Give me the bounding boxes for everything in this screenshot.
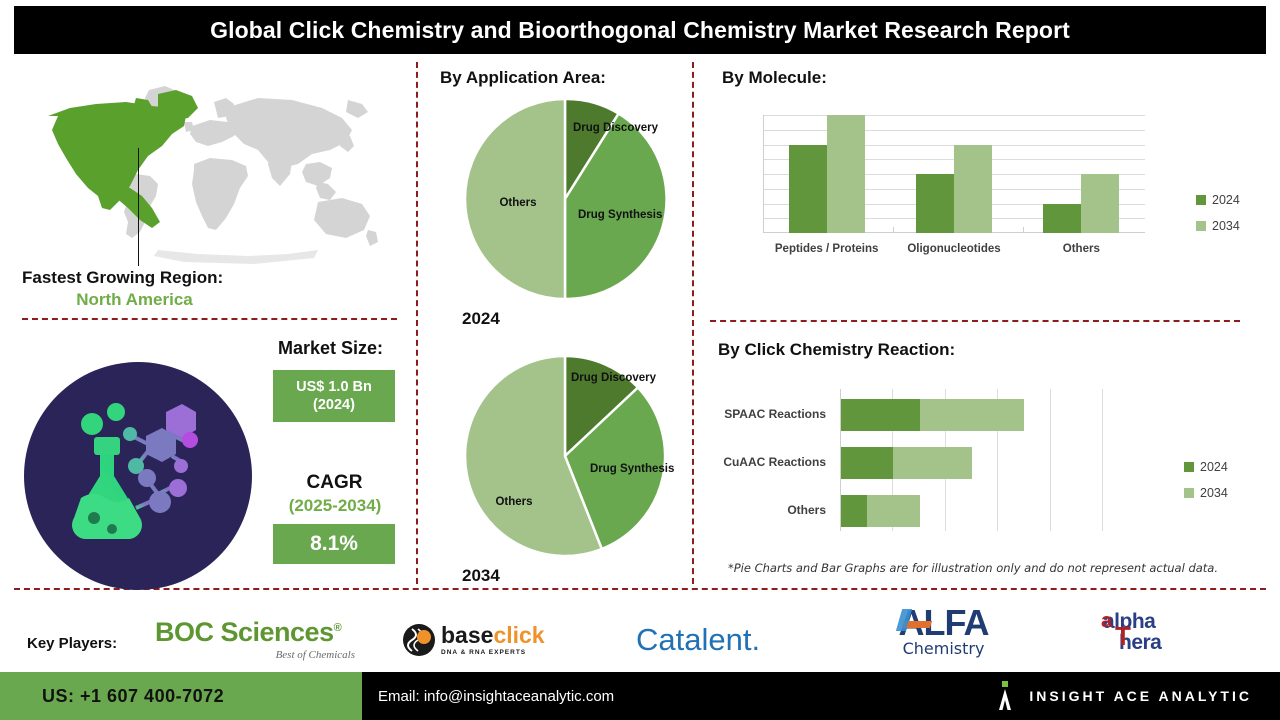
legend-item-2024: 2024 bbox=[1196, 193, 1240, 207]
category-label-spaac-reactions: SPAAC Reactions bbox=[724, 407, 826, 421]
pie-2034-year: 2034 bbox=[462, 566, 500, 586]
pie-2034-label-drug-synthesis: Drug Synthesis bbox=[590, 462, 660, 476]
alphathera-red-t-icon: T bbox=[1115, 623, 1131, 649]
registered-mark-icon: ® bbox=[334, 622, 342, 634]
bar-others-2034 bbox=[1081, 174, 1119, 233]
world-map bbox=[18, 72, 408, 267]
fastest-growing-region-label: Fastest Growing Region: bbox=[22, 268, 392, 288]
logo-baseclick-tagline: DNA & RNA EXPERTS bbox=[441, 649, 545, 656]
section-heading-molecule: By Molecule: bbox=[722, 68, 827, 88]
alphathera-red-a-icon: a bbox=[1101, 610, 1112, 633]
logo-catalent-name: Catalent. bbox=[636, 624, 760, 655]
baseclick-dna-icon bbox=[402, 623, 436, 657]
logo-boc-sciences: BOC Sciences® Best of Chemicals bbox=[155, 612, 355, 668]
stacked-bar-spaac bbox=[841, 399, 1024, 431]
stacked-seg-others-2034 bbox=[867, 495, 919, 527]
market-size-value-box: US$ 1.0 Bn (2024) bbox=[273, 370, 395, 422]
legend-swatch-reaction-2034 bbox=[1184, 488, 1194, 498]
pie-2034-slice-label-2: Others bbox=[495, 496, 532, 508]
divider-horizontal-right bbox=[710, 320, 1240, 322]
page-title: Global Click Chemistry and Bioorthogonal… bbox=[210, 17, 1070, 44]
category-label-others: Others bbox=[1018, 243, 1145, 255]
insight-ace-logo-icon bbox=[995, 681, 1015, 711]
footer-email: Email: info@insightaceanalytic.com bbox=[378, 672, 614, 720]
bar-peptides-2024 bbox=[789, 145, 827, 234]
bar-group-oligonucleotides bbox=[890, 115, 1017, 233]
legend-item-reaction-2034: 2034 bbox=[1184, 486, 1228, 500]
fastest-growing-region-block: Fastest Growing Region: North America bbox=[22, 268, 392, 310]
map-highlight-north-america bbox=[48, 90, 198, 228]
legend-label-reaction-2034: 2034 bbox=[1200, 486, 1228, 500]
divider-horizontal-left bbox=[22, 318, 397, 320]
category-label-oligonucleotides: Oligonucleotides bbox=[890, 243, 1017, 255]
legend-item-reaction-2024: 2024 bbox=[1184, 460, 1228, 474]
category-label-peptides-proteins: Peptides / Proteins bbox=[763, 243, 890, 255]
bar-chart-reaction: SPAAC Reactions CuAAC Reactions Others bbox=[712, 385, 1232, 553]
pie-2034-label-others: Others bbox=[483, 495, 545, 509]
cagr-value-box: 8.1% bbox=[273, 524, 395, 564]
bar-oligonucleotides-2034 bbox=[954, 145, 992, 234]
pie-2024-slice-label-2: Others bbox=[499, 197, 536, 209]
pie-2024-slice-label-0: Drug Discovery bbox=[573, 122, 658, 134]
logo-baseclick-click: click bbox=[493, 622, 544, 648]
stacked-seg-spaac-2034 bbox=[920, 399, 1025, 431]
logo-catalent-dot: . bbox=[751, 622, 760, 657]
legend-molecule-chart: 2024 2034 bbox=[1196, 193, 1240, 245]
pie-2024-slice-label-1: Drug Synthesis bbox=[578, 209, 662, 221]
category-label-cuaac-reactions: CuAAC Reactions bbox=[723, 455, 826, 469]
pie-2034-slice-label-1: Drug Synthesis bbox=[590, 463, 674, 475]
section-heading-reaction: By Click Chemistry Reaction: bbox=[718, 340, 955, 360]
logo-catalent-text: Catalent bbox=[636, 622, 751, 657]
logo-alfa-chemistry: ALFA Chemistry bbox=[866, 602, 1021, 660]
footer-brand-block: INSIGHT ACE ANALYTIC bbox=[995, 672, 1252, 720]
bar-peptides-2034 bbox=[827, 115, 865, 233]
logo-boc-sciences-tagline: Best of Chemicals bbox=[155, 649, 355, 661]
bar-group-others bbox=[1018, 115, 1145, 233]
footer-phone: US: +1 607 400-7072 bbox=[42, 686, 224, 707]
logo-alphathera: alpha hera a T bbox=[1103, 606, 1253, 658]
logo-baseclick-base: base bbox=[441, 622, 493, 648]
footer-brand-name: INSIGHT ACE ANALYTIC bbox=[1029, 688, 1252, 704]
divider-horizontal-bottom bbox=[14, 588, 1266, 590]
legend-swatch-2024 bbox=[1196, 195, 1206, 205]
stacked-bar-reaction-others bbox=[841, 495, 920, 527]
stacked-seg-cuaac-2024 bbox=[841, 447, 893, 479]
bar-chart-molecule: Peptides / Proteins Oligonucleotides Oth… bbox=[755, 115, 1225, 255]
infographic-canvas: Global Click Chemistry and Bioorthogonal… bbox=[0, 0, 1280, 720]
map-leader-line bbox=[138, 148, 139, 266]
key-players-label: Key Players: bbox=[27, 635, 117, 652]
bar-chart-molecule-categories: Peptides / Proteins Oligonucleotides Oth… bbox=[763, 243, 1145, 255]
bar-others-2024 bbox=[1043, 204, 1081, 234]
pie-2024-label-others: Others bbox=[487, 196, 549, 210]
legend-label-2024: 2024 bbox=[1212, 193, 1240, 207]
legend-swatch-reaction-2024 bbox=[1184, 462, 1194, 472]
insight-ace-mark-svg bbox=[995, 681, 1015, 711]
report-header: Global Click Chemistry and Bioorthogonal… bbox=[14, 6, 1266, 54]
bar-group-peptides-proteins bbox=[763, 115, 890, 233]
stacked-bar-cuaac bbox=[841, 447, 972, 479]
cagr-title: CAGR bbox=[282, 472, 387, 494]
legend-label-2034: 2034 bbox=[1212, 219, 1240, 233]
footer-phone-block: US: +1 607 400-7072 bbox=[0, 672, 362, 720]
flask-molecule-icon bbox=[54, 390, 224, 560]
logo-alphathera-line2: hera bbox=[1119, 632, 1253, 653]
cagr-years: (2025-2034) bbox=[270, 496, 400, 516]
footer-bar: US: +1 607 400-7072 Email: info@insighta… bbox=[0, 672, 1280, 720]
chart-footnote: *Pie Charts and Bar Graphs are for illus… bbox=[728, 561, 1218, 575]
category-label-reaction-others: Others bbox=[787, 503, 826, 517]
pie-2034-label-drug-discovery: Drug Discovery bbox=[571, 371, 643, 385]
logo-catalent: Catalent. bbox=[636, 618, 806, 660]
legend-item-2034: 2034 bbox=[1196, 219, 1240, 233]
gridline bbox=[1050, 389, 1051, 531]
bar-chart-molecule-groups bbox=[763, 115, 1145, 233]
pie-2024-label-drug-discovery: Drug Discovery bbox=[573, 121, 643, 135]
axis-tick bbox=[893, 227, 894, 233]
bar-oligonucleotides-2024 bbox=[916, 174, 954, 233]
section-heading-application-area: By Application Area: bbox=[440, 68, 606, 88]
legend-swatch-2034 bbox=[1196, 221, 1206, 231]
market-size-value-line2: (2024) bbox=[296, 396, 372, 414]
pie-2024-label-drug-synthesis: Drug Synthesis bbox=[578, 208, 646, 222]
pie-2024-year: 2024 bbox=[462, 309, 500, 329]
market-size-value-line1: US$ 1.0 Bn bbox=[296, 378, 372, 396]
stacked-seg-others-2024 bbox=[841, 495, 867, 527]
gridline bbox=[1102, 389, 1103, 531]
market-size-title: Market Size: bbox=[278, 338, 383, 359]
logo-boc-sciences-name: BOC Sciences® bbox=[155, 619, 355, 646]
legend-label-reaction-2024: 2024 bbox=[1200, 460, 1228, 474]
bar-chart-reaction-plot bbox=[840, 389, 1102, 531]
stacked-seg-cuaac-2034 bbox=[893, 447, 972, 479]
legend-reaction-chart: 2024 2034 bbox=[1184, 460, 1228, 512]
stacked-seg-spaac-2024 bbox=[841, 399, 920, 431]
divider-vertical-left bbox=[416, 62, 418, 584]
axis-tick bbox=[1023, 227, 1024, 233]
bar-chart-reaction-category-labels: SPAAC Reactions CuAAC Reactions Others bbox=[712, 385, 832, 531]
divider-vertical-right bbox=[692, 62, 694, 584]
logo-baseclick: baseclick DNA & RNA EXPERTS bbox=[402, 618, 577, 662]
chemistry-flask-illustration bbox=[24, 362, 252, 590]
fastest-growing-region-value: North America bbox=[22, 290, 247, 310]
pie-2034-slice-label-0: Drug Discovery bbox=[571, 372, 656, 384]
logo-baseclick-name: baseclick bbox=[441, 624, 545, 647]
logo-boc-sciences-text: BOC Sciences bbox=[155, 617, 334, 647]
world-map-svg bbox=[18, 72, 408, 267]
